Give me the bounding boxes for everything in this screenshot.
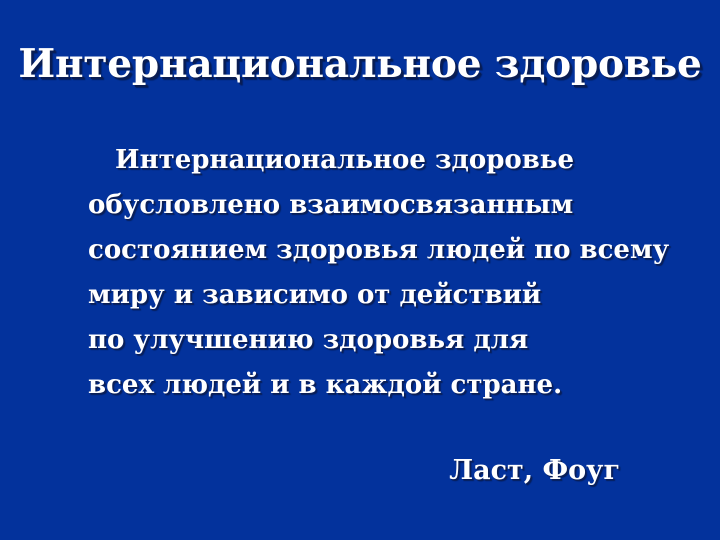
body-line-1: Интернациональное здоровье: [88, 138, 608, 183]
attribution-text: Ласт, Фоуг: [0, 452, 720, 490]
body-line-5: по улучшению здоровья для: [88, 318, 608, 363]
body-line-3: состоянием здоровья людей по всему: [88, 228, 608, 273]
page-title: Интернациональное здоровье: [0, 42, 720, 86]
body-line-6: всех людей и в каждой стране.: [88, 363, 608, 408]
body-line-2: обусловлено взаимосвязанным: [88, 183, 608, 228]
body-line-4: миру и зависимо от действий: [88, 273, 608, 318]
presentation-slide: Интернациональное здоровье Интернационал…: [0, 0, 720, 540]
slide-body-text: Интернациональное здоровье обусловлено в…: [88, 138, 608, 408]
